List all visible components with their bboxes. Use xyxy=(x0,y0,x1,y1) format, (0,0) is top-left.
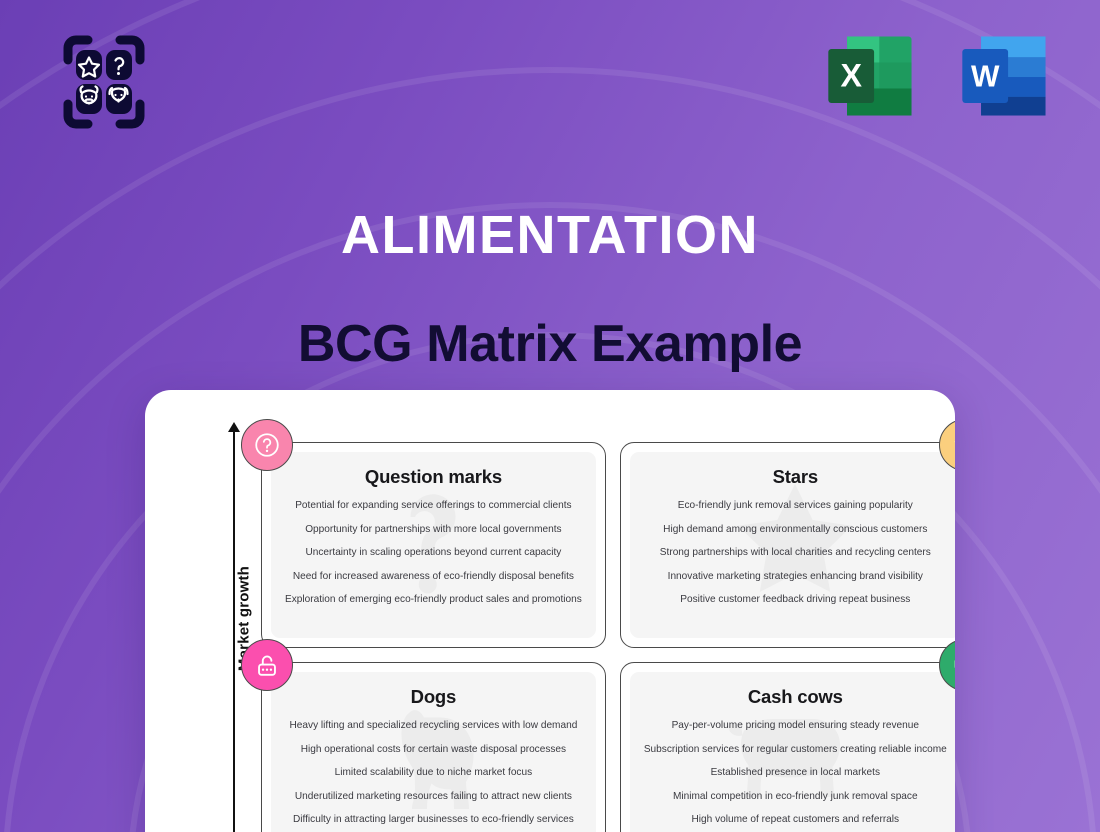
bcg-matrix-logo-icon xyxy=(48,26,160,138)
list-item: Innovative marketing strategies enhancin… xyxy=(644,570,947,583)
brand-title: ALIMENTATION xyxy=(0,207,1100,264)
y-axis: High Market growth xyxy=(179,420,259,832)
word-icon: W xyxy=(954,24,1058,128)
quadrant-title: Cash cows xyxy=(644,686,947,708)
list-item: Exploration of emerging eco-friendly pro… xyxy=(285,593,582,606)
question-mark-icon xyxy=(252,430,282,460)
list-item: Minimal competition in eco-friendly junk… xyxy=(644,790,947,803)
list-item: Pay-per-volume pricing model ensuring st… xyxy=(644,719,947,732)
list-item: Eco-friendly junk removal services gaini… xyxy=(644,499,947,512)
page-title: BCG Matrix Example xyxy=(0,316,1100,373)
list-item: Opportunity for partnerships with more l… xyxy=(285,523,582,536)
list-item: Established presence in local markets xyxy=(644,766,947,779)
quadrant-item-list: Heavy lifting and specialized recycling … xyxy=(285,719,582,827)
list-item: Difficulty in attracting larger business… xyxy=(285,813,582,826)
badge-dogs[interactable] xyxy=(241,639,293,691)
y-axis-line xyxy=(233,430,235,832)
quadrant-question-marks[interactable]: Question marks Potential for expanding s… xyxy=(261,442,606,648)
list-item: Uncertainty in scaling operations beyond… xyxy=(285,546,582,559)
list-item: Positive customer feedback driving repea… xyxy=(644,593,947,606)
quadrant-cash-cows[interactable]: Cash cows Pay-per-volume pricing model e… xyxy=(620,662,955,832)
bcg-matrix-card: High Market growth Que xyxy=(145,390,955,832)
list-item: Need for increased awareness of eco-frie… xyxy=(285,570,582,583)
list-item: High volume of repeat customers and refe… xyxy=(644,813,947,826)
list-item: Subscription services for regular custom… xyxy=(644,743,947,756)
quadrant-title: Question marks xyxy=(285,466,582,488)
svg-text:X: X xyxy=(840,57,862,93)
office-icons-group: X W xyxy=(820,24,1058,128)
list-item: Strong partnerships with local charities… xyxy=(644,546,947,559)
quadrant-item-list: Pay-per-volume pricing model ensuring st… xyxy=(644,719,947,827)
quadrant-stars[interactable]: Stars Eco-friendly junk removal services… xyxy=(620,442,955,648)
quadrant-grid: Question marks Potential for expanding s… xyxy=(261,442,917,832)
excel-icon: X xyxy=(820,24,924,128)
list-item: Limited scalability due to niche market … xyxy=(285,766,582,779)
quadrant-panel: Question marks Potential for expanding s… xyxy=(271,452,596,638)
quadrant-panel: Dogs Heavy lifting and specialized recyc… xyxy=(271,672,596,832)
svg-text:W: W xyxy=(971,60,1000,93)
quadrant-panel: Cash cows Pay-per-volume pricing model e… xyxy=(630,672,955,832)
list-item: High demand among environmentally consci… xyxy=(644,523,947,536)
list-item: High operational costs for certain waste… xyxy=(285,743,582,756)
quadrant-item-list: Potential for expanding service offering… xyxy=(285,499,582,607)
slide-canvas: X W ALIMENTATION BCG Matrix Example High… xyxy=(0,0,1100,832)
badge-question-marks[interactable] xyxy=(241,419,293,471)
list-item: Potential for expanding service offering… xyxy=(285,499,582,512)
list-item: Heavy lifting and specialized recycling … xyxy=(285,719,582,732)
quadrant-item-list: Eco-friendly junk removal services gaini… xyxy=(644,499,947,607)
list-item: Underutilized marketing resources failin… xyxy=(285,790,582,803)
unlocked-padlock-icon xyxy=(252,650,282,680)
quadrant-dogs[interactable]: Dogs Heavy lifting and specialized recyc… xyxy=(261,662,606,832)
quadrant-title: Stars xyxy=(644,466,947,488)
banknotes-icon xyxy=(950,650,955,680)
quadrant-panel: Stars Eco-friendly junk removal services… xyxy=(630,452,955,638)
quadrant-title: Dogs xyxy=(285,686,582,708)
star-icon xyxy=(950,430,955,460)
